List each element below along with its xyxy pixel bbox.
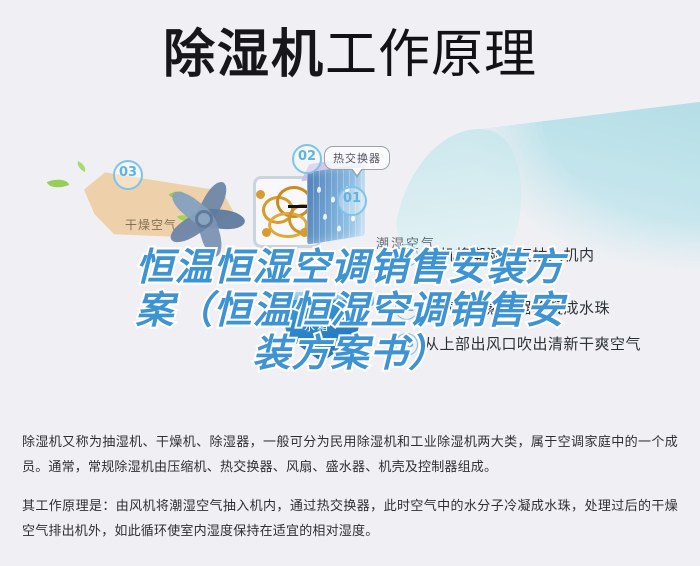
leaf-icon <box>47 175 70 193</box>
leaf-icon <box>75 161 88 172</box>
marker-01: 01 <box>337 186 367 216</box>
watermark-line-3: 装方案书） <box>0 332 700 375</box>
article-body: 除湿机又称为抽湿机、干燥机、除湿器，一般可分为民用除湿机和工业除湿机两大类，属于… <box>0 408 700 566</box>
marker-02: 02 <box>292 144 322 174</box>
watermark-line-2: 案（恒温恒湿空调销售安 <box>0 289 700 332</box>
page-title: 除湿机工作原理 <box>0 26 700 84</box>
watermark-headline: 恒温恒湿空调销售安装方 案（恒温恒湿空调销售安 装方案书） <box>0 246 700 375</box>
article-paragraph-1: 除湿机又称为抽湿机、干燥机、除湿器，一般可分为民用除湿机和工业除湿机两大类，属于… <box>22 430 678 480</box>
title-segment-primary: 除湿机 <box>163 25 325 85</box>
marker-03: 03 <box>113 160 143 190</box>
coil-node-icon <box>256 190 265 199</box>
title-segment-secondary: 工作原理 <box>325 25 537 85</box>
article-paragraph-2: 其工作原理是：由风机将潮湿空气抽入机内，通过热交换器，此时空气中的水分子冷凝成水… <box>22 494 678 544</box>
heat-exchanger-callout: 热交换器 <box>324 146 390 170</box>
coil-node-icon <box>262 228 271 237</box>
page-root: 除湿机工作原理 干燥空气 <box>0 0 700 566</box>
watermark-line-1: 恒温恒湿空调销售安装方 <box>0 246 700 289</box>
